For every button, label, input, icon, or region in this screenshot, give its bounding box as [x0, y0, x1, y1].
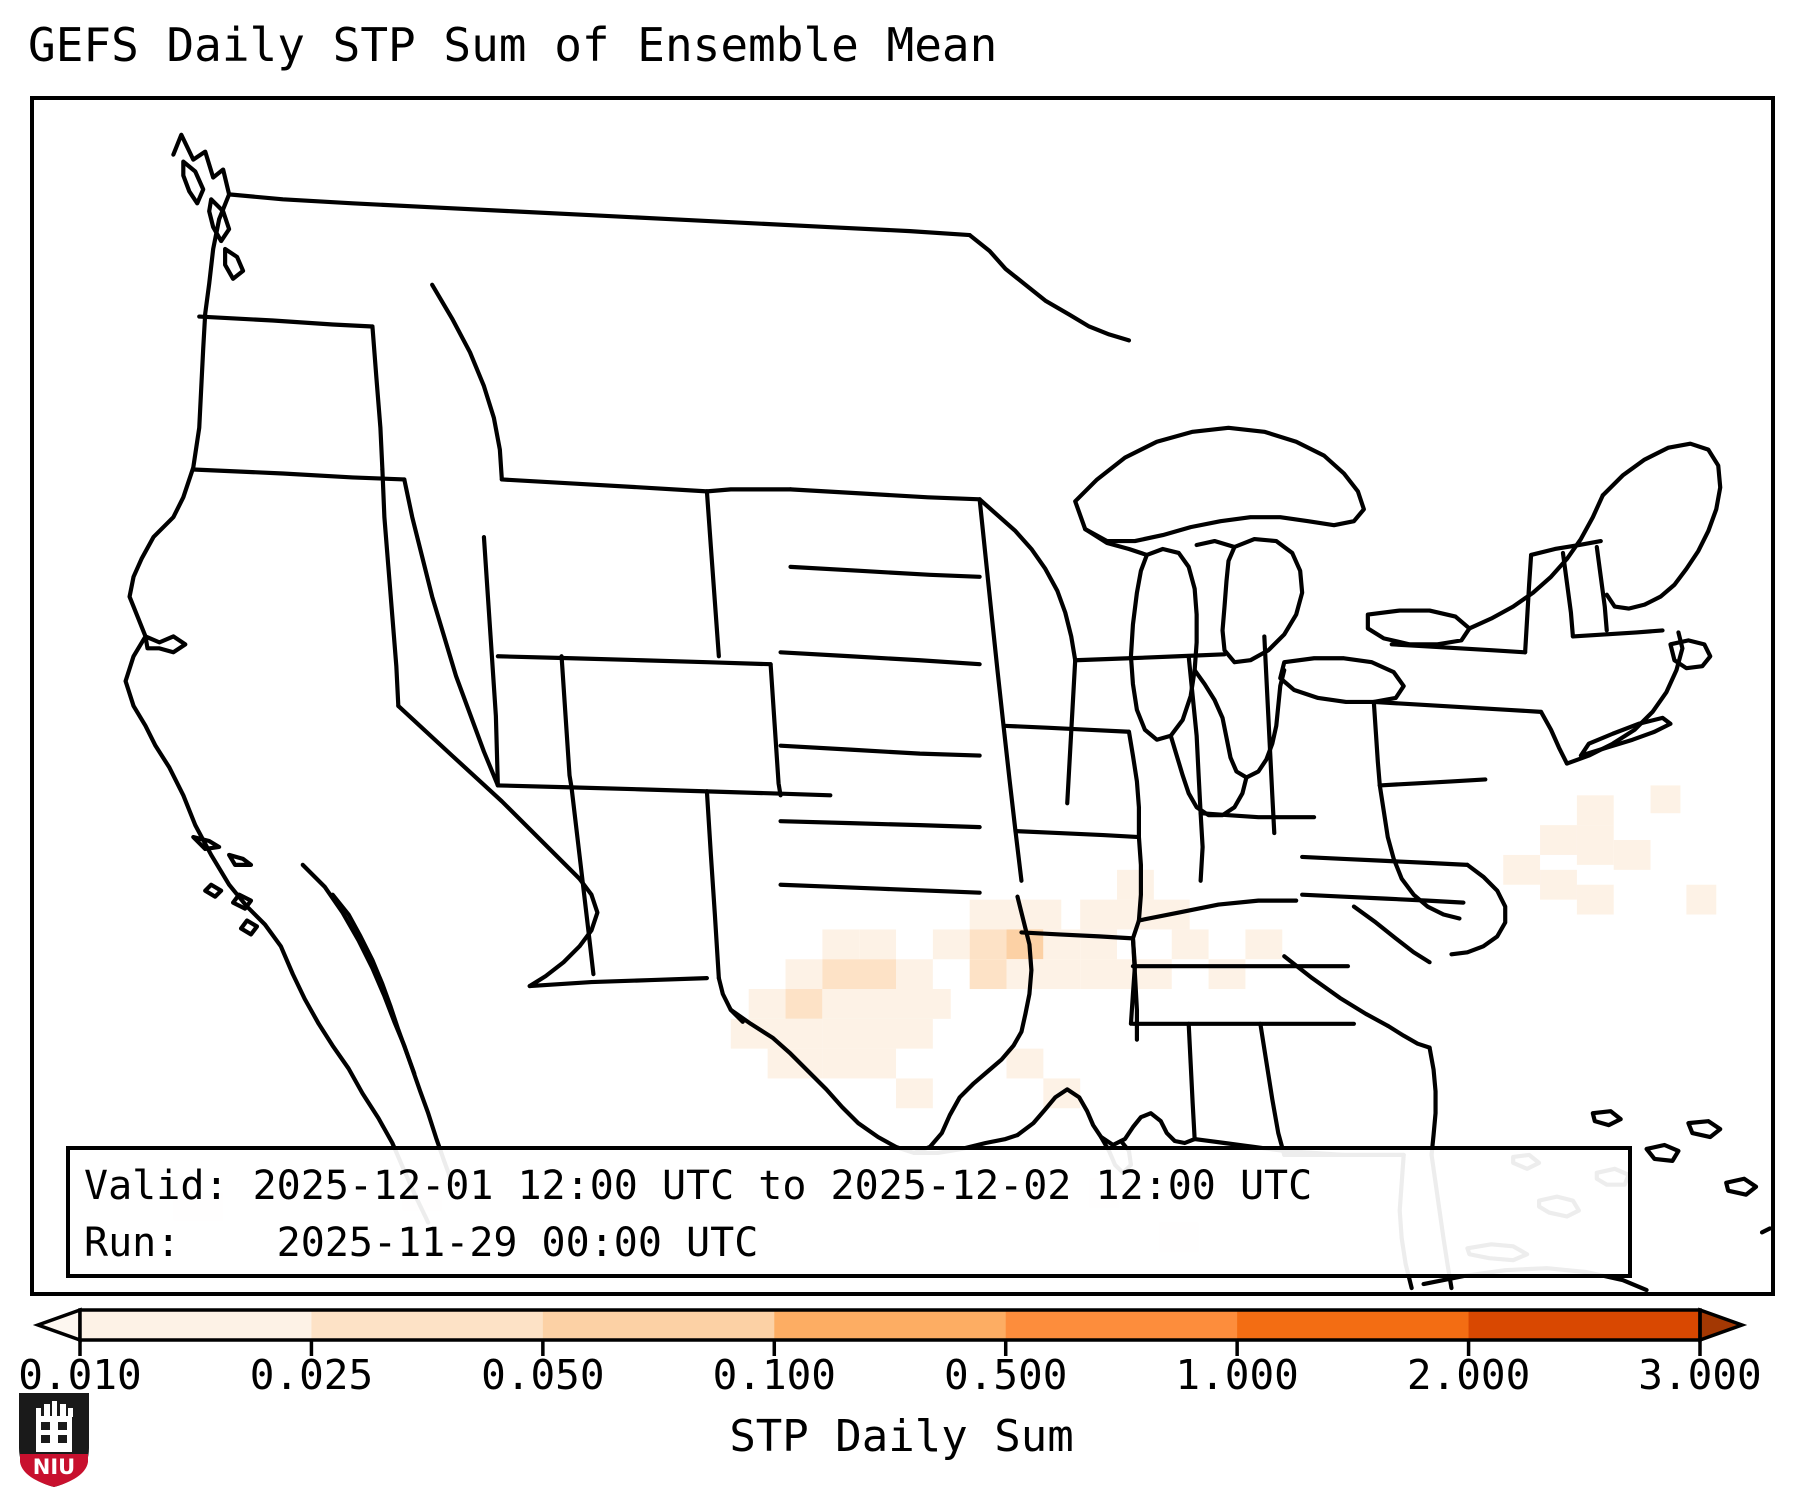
colorbar-tick-label: 0.050 [481, 1351, 604, 1399]
colorbar-segment [311, 1310, 543, 1340]
niu-logo: NIU [16, 1390, 92, 1490]
colorbar-segment [774, 1310, 1006, 1340]
run-time-line: Run: 2025-11-29 00:00 UTC [84, 1215, 1628, 1272]
colorbar-over-cap [1700, 1310, 1742, 1340]
colorbar-segment [1237, 1310, 1469, 1340]
page-title: GEFS Daily STP Sum of Ensemble Mean [28, 18, 997, 72]
colorbar-tick-label: 0.025 [250, 1351, 373, 1399]
colorbar: 0.0100.0250.0500.1000.5001.0002.0003.000… [0, 1303, 1803, 1503]
colorbar-segment [543, 1310, 775, 1340]
colorbar-axis-label: STP Daily Sum [0, 1411, 1803, 1462]
colorbar-segment [1469, 1310, 1701, 1340]
colorbar-segment [80, 1310, 312, 1340]
valid-time-line: Valid: 2025-12-01 12:00 UTC to 2025-12-0… [84, 1158, 1628, 1215]
colorbar-tick-label: 0.500 [944, 1351, 1067, 1399]
map-outlines [34, 100, 1771, 1292]
colorbar-tick-label: 3.000 [1638, 1351, 1761, 1399]
map-plot-area [30, 96, 1775, 1296]
colorbar-under-cap [38, 1310, 80, 1340]
colorbar-tick-label: 0.100 [713, 1351, 836, 1399]
info-box: Valid: 2025-12-01 12:00 UTC to 2025-12-0… [66, 1146, 1632, 1278]
niu-logo-text: NIU [33, 1455, 75, 1479]
colorbar-tick-label: 2.000 [1407, 1351, 1530, 1399]
colorbar-segment [1006, 1310, 1238, 1340]
colorbar-tick-label: 1.000 [1175, 1351, 1298, 1399]
